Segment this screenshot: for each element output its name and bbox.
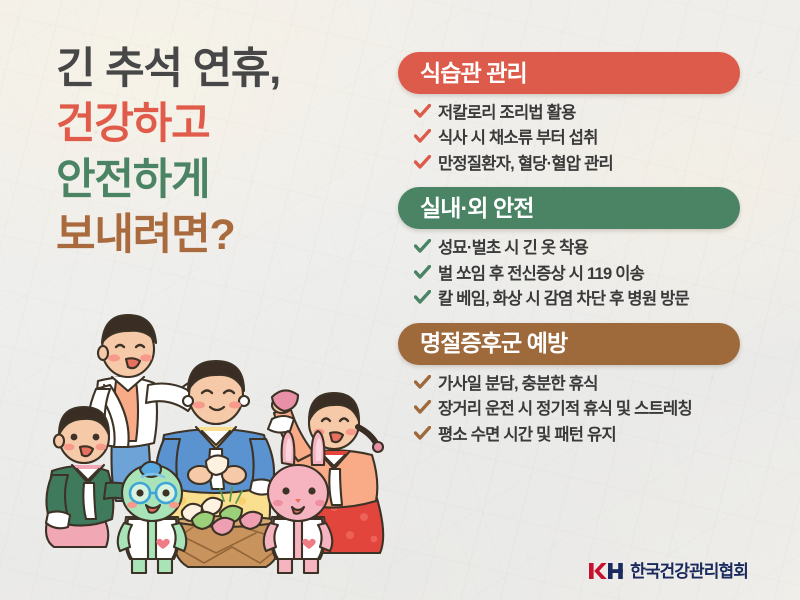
check-icon	[414, 104, 431, 119]
check-icon	[414, 400, 431, 415]
section-title-safety: 실내·외 안전	[420, 197, 534, 220]
list-item-text: 벌 쏘임 후 전신증상 시 119 이송	[438, 265, 644, 283]
list-item: 가사일 분담, 충분한 휴식	[414, 374, 770, 393]
check-icon	[414, 239, 431, 254]
list-item-text: 저칼로리 조리법 활용	[438, 104, 576, 122]
kh-logo-icon	[589, 560, 623, 582]
info-sections: 식습관 관리 저칼로리 조리법 활용 식사 시 채소류 부터 섭취	[398, 52, 770, 444]
organization-logo: 한국건강관리협회	[589, 560, 748, 582]
section-safety: 실내·외 안전 성묘·벌초 시 긴 옷 착용 벌 쏘임 후 전신증상 시 119…	[398, 187, 770, 308]
bullet-list-holiday: 가사일 분담, 충분한 휴식 장거리 운전 시 정기적 휴식 및 스트레칭 평소…	[398, 374, 770, 444]
list-item: 평소 수면 시간 및 패턴 유지	[414, 425, 770, 444]
organization-name: 한국건강관리협회	[630, 563, 748, 580]
list-item-text: 평소 수면 시간 및 패턴 유지	[438, 426, 616, 444]
list-item: 칼 베임, 화상 시 감염 차단 후 병원 방문	[414, 289, 770, 308]
list-item: 저칼로리 조리법 활용	[414, 103, 770, 122]
list-item: 식사 시 채소류 부터 섭취	[414, 128, 770, 147]
headline-line-1: 긴 추석 연휴,	[56, 42, 386, 97]
headline-line-2: 건강하고	[56, 97, 386, 152]
family-songpyeon-illustration	[36, 285, 396, 580]
infographic-poster: 긴 추석 연휴, 건강하고 안전하게 보내려면?	[0, 0, 800, 600]
bullet-list-safety: 성묘·벌초 시 긴 옷 착용 벌 쏘임 후 전신증상 시 119 이송 칼 베임…	[398, 238, 770, 308]
check-icon	[414, 290, 431, 305]
section-title-diet: 식습관 관리	[420, 62, 527, 85]
check-icon	[414, 426, 431, 441]
check-icon	[414, 265, 431, 280]
list-item-text: 가사일 분담, 충분한 휴식	[438, 375, 598, 393]
section-holiday: 명절증후군 예방 가사일 분담, 충분한 휴식 장거리 운전 시 정기적 휴식 …	[398, 323, 770, 444]
list-item: 벌 쏘임 후 전신증상 시 119 이송	[414, 264, 770, 283]
headline-block: 긴 추석 연휴, 건강하고 안전하게 보내려면?	[56, 42, 386, 264]
bullet-list-diet: 저칼로리 조리법 활용 식사 시 채소류 부터 섭취 만정질환자, 혈당·혈압 …	[398, 103, 770, 173]
list-item-text: 만정질환자, 혈당·혈압 관리	[438, 155, 613, 173]
list-item-text: 칼 베임, 화상 시 감염 차단 후 병원 방문	[438, 290, 689, 308]
list-item: 만정질환자, 혈당·혈압 관리	[414, 154, 770, 173]
headline-line-3: 안전하게	[56, 153, 386, 208]
section-diet: 식습관 관리 저칼로리 조리법 활용 식사 시 채소류 부터 섭취	[398, 52, 770, 173]
section-header-diet: 식습관 관리	[398, 52, 740, 94]
headline-line-4: 보내려면?	[56, 208, 386, 263]
mascot-green	[118, 462, 187, 573]
check-icon	[414, 155, 431, 170]
check-icon	[414, 129, 431, 144]
list-item-text: 식사 시 채소류 부터 섭취	[438, 129, 598, 147]
list-item-text: 장거리 운전 시 정기적 휴식 및 스트레칭	[438, 400, 692, 418]
section-header-holiday: 명절증후군 예방	[398, 323, 740, 365]
list-item-text: 성묘·벌초 시 긴 옷 착용	[438, 239, 588, 257]
check-icon	[414, 375, 431, 390]
list-item: 장거리 운전 시 정기적 휴식 및 스트레칭	[414, 399, 770, 418]
section-header-safety: 실내·외 안전	[398, 187, 740, 229]
section-title-holiday: 명절증후군 예방	[420, 332, 567, 355]
list-item: 성묘·벌초 시 긴 옷 착용	[414, 238, 770, 257]
